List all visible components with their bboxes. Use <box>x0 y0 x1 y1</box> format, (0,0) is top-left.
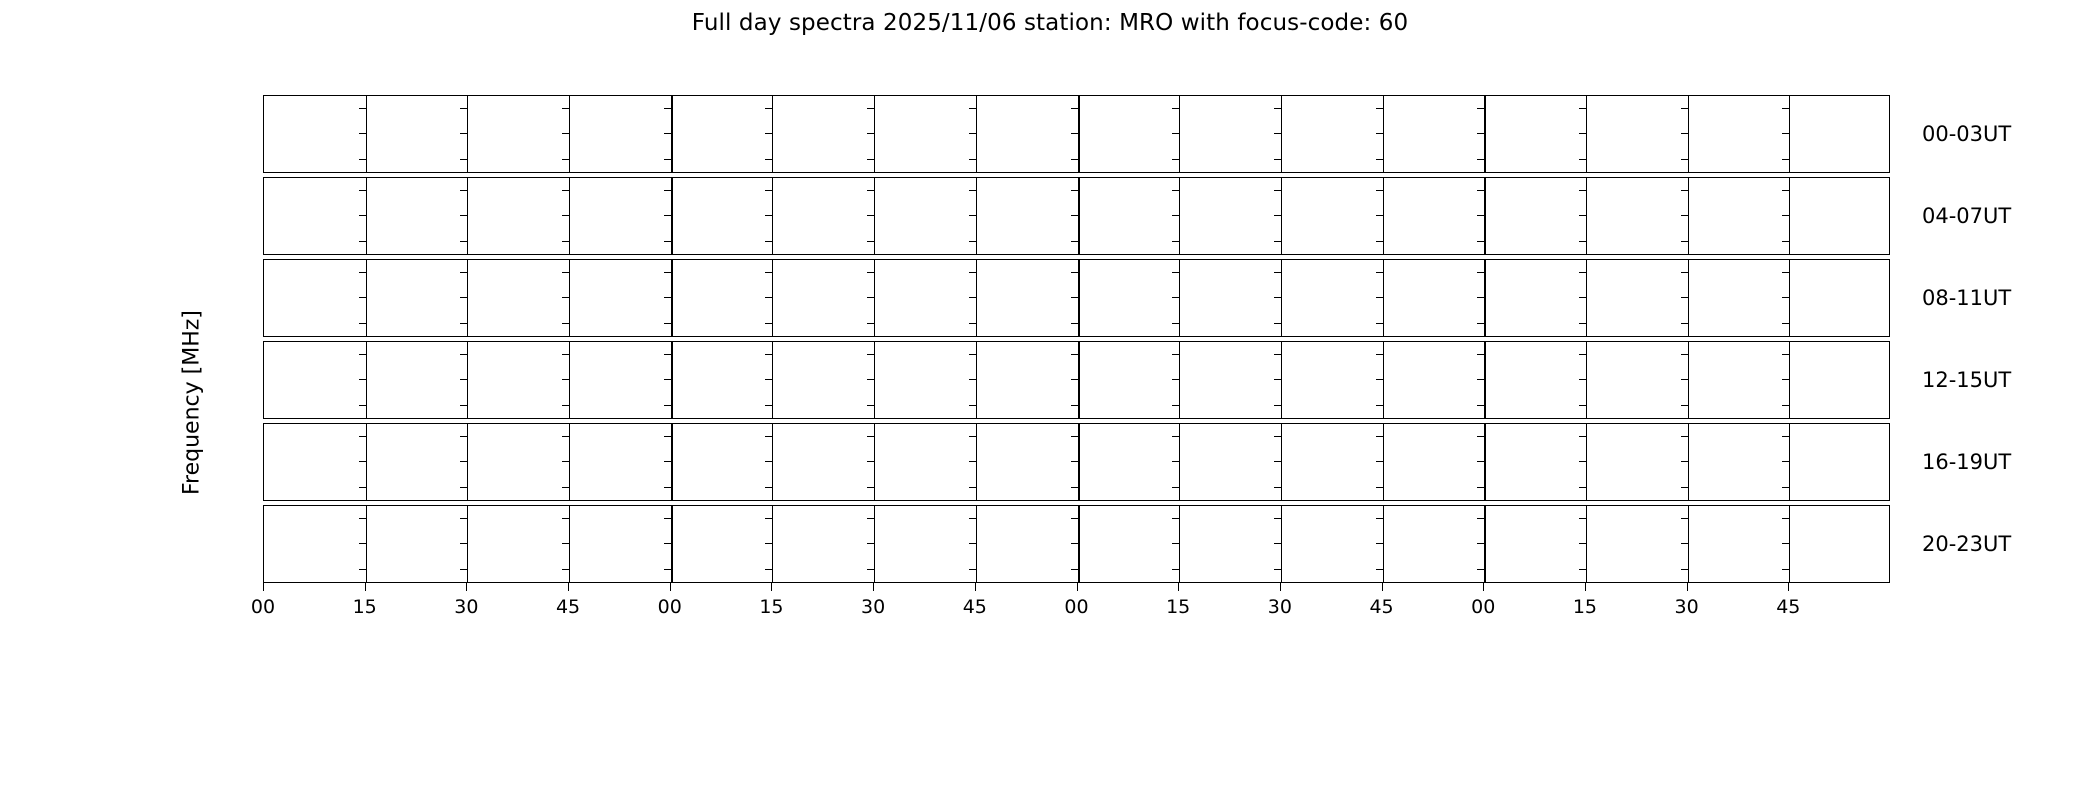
y-tick <box>263 569 264 570</box>
subpanel-divider <box>1383 260 1384 336</box>
y-tick-minor <box>1071 297 1078 298</box>
y-tick-minor <box>1477 518 1484 519</box>
x-tick-label: 30 <box>861 596 885 618</box>
x-tick <box>466 583 467 591</box>
subpanel-divider <box>467 260 468 336</box>
subpanel-divider <box>671 342 673 418</box>
y-tick-minor <box>1681 461 1688 462</box>
y-tick-minor <box>1376 405 1383 406</box>
y-tick-minor <box>359 405 366 406</box>
y-tick-minor <box>867 159 874 160</box>
y-tick-minor <box>1172 190 1179 191</box>
y-tick-minor <box>359 379 366 380</box>
y-tick <box>263 108 264 109</box>
y-tick-minor <box>969 543 976 544</box>
y-tick-minor <box>1579 405 1586 406</box>
y-tick-minor <box>1477 241 1484 242</box>
y-tick-minor <box>1071 241 1078 242</box>
subpanel-divider <box>1281 424 1282 500</box>
x-tick <box>1178 583 1179 591</box>
subpanel-divider <box>366 260 367 336</box>
subpanel-divider <box>569 96 570 172</box>
y-tick-minor <box>1681 323 1688 324</box>
y-tick-minor <box>359 159 366 160</box>
y-tick-minor <box>664 108 671 109</box>
x-tick-label: 00 <box>1471 596 1495 618</box>
y-tick-minor <box>1782 215 1789 216</box>
subpanel-divider <box>874 424 875 500</box>
subpanel-divider <box>569 260 570 336</box>
subpanel-divider <box>1179 506 1180 582</box>
y-tick-minor <box>460 159 467 160</box>
y-tick-minor <box>1274 543 1281 544</box>
y-tick-minor <box>562 461 569 462</box>
x-tick <box>771 583 772 591</box>
subpanel-divider <box>1179 96 1180 172</box>
y-tick-minor <box>1579 159 1586 160</box>
x-tick <box>1280 583 1281 591</box>
y-tick-minor <box>1071 487 1078 488</box>
y-tick-minor <box>460 405 467 406</box>
subpanel-divider <box>467 178 468 254</box>
y-tick-minor <box>664 215 671 216</box>
subpanel-divider <box>671 424 673 500</box>
y-tick-minor <box>1172 379 1179 380</box>
y-tick-minor <box>1681 543 1688 544</box>
subpanel-divider <box>1078 96 1080 172</box>
y-tick-minor <box>1681 215 1688 216</box>
y-tick-minor <box>1681 379 1688 380</box>
y-tick-minor <box>1579 241 1586 242</box>
y-tick-minor <box>765 323 772 324</box>
subpanel-divider <box>1078 260 1080 336</box>
y-tick-minor <box>1172 543 1179 544</box>
subpanel-divider <box>366 96 367 172</box>
y-tick-minor <box>1579 436 1586 437</box>
y-tick-minor <box>1782 297 1789 298</box>
y-tick <box>263 190 264 191</box>
y-tick-minor <box>765 354 772 355</box>
y-tick-minor <box>1071 323 1078 324</box>
subpanel-divider <box>366 424 367 500</box>
y-tick-minor <box>1274 518 1281 519</box>
y-tick-minor <box>1071 569 1078 570</box>
x-tick-label: 45 <box>556 596 580 618</box>
y-tick-minor <box>562 241 569 242</box>
y-tick-minor <box>664 159 671 160</box>
y-tick-minor <box>664 241 671 242</box>
y-tick-minor <box>1681 436 1688 437</box>
subpanel-divider <box>1179 342 1180 418</box>
y-tick-minor <box>1376 272 1383 273</box>
spectrogram-row-08-11ut[interactable]: 250500750 <box>263 259 1890 337</box>
subpanel-divider <box>976 424 977 500</box>
y-tick-minor <box>969 241 976 242</box>
y-tick-minor <box>1172 272 1179 273</box>
y-tick-minor <box>1477 190 1484 191</box>
y-tick-minor <box>1172 354 1179 355</box>
y-tick-minor <box>969 518 976 519</box>
y-tick-minor <box>1681 108 1688 109</box>
y-tick-minor <box>969 323 976 324</box>
subpanel-divider <box>772 178 773 254</box>
y-tick-minor <box>1681 297 1688 298</box>
y-tick-minor <box>1172 159 1179 160</box>
x-tick-label: 00 <box>1064 596 1088 618</box>
subpanel-divider <box>1179 178 1180 254</box>
y-tick-minor <box>1376 297 1383 298</box>
x-tick-label: 45 <box>1369 596 1393 618</box>
x-tick-label: 00 <box>251 596 275 618</box>
y-tick-minor <box>359 518 366 519</box>
y-tick-minor <box>765 569 772 570</box>
y-tick-minor <box>562 543 569 544</box>
y-tick-minor <box>562 379 569 380</box>
y-tick-minor <box>765 436 772 437</box>
y-tick-minor <box>765 159 772 160</box>
subpanel-divider <box>1688 424 1689 500</box>
subpanel-divider <box>569 506 570 582</box>
subpanel-divider <box>1688 342 1689 418</box>
subpanel-divider <box>1383 506 1384 582</box>
y-tick-minor <box>1681 159 1688 160</box>
subpanel-divider <box>569 342 570 418</box>
x-tick <box>1077 583 1078 591</box>
y-tick-minor <box>460 569 467 570</box>
row-label-16-19ut: 16-19UT <box>1922 450 2011 474</box>
subpanel-divider <box>1383 178 1384 254</box>
page-title: Full day spectra 2025/11/06 station: MRO… <box>0 10 2100 36</box>
y-tick-minor <box>1681 518 1688 519</box>
y-tick-minor <box>765 379 772 380</box>
y-tick-minor <box>1071 543 1078 544</box>
x-tick <box>568 583 569 591</box>
subpanel-divider <box>976 96 977 172</box>
y-tick-minor <box>1274 297 1281 298</box>
y-tick-minor <box>1172 108 1179 109</box>
y-tick-minor <box>1071 133 1078 134</box>
subpanel-divider <box>366 506 367 582</box>
subpanel-divider <box>1789 424 1790 500</box>
y-tick-minor <box>1681 487 1688 488</box>
y-tick-minor <box>664 487 671 488</box>
y-tick-minor <box>1071 436 1078 437</box>
y-tick-minor <box>359 436 366 437</box>
spectrogram-row-16-19ut[interactable]: 250500750 <box>263 423 1890 501</box>
y-tick-minor <box>969 108 976 109</box>
y-tick-minor <box>1172 569 1179 570</box>
y-tick-minor <box>1376 108 1383 109</box>
y-tick <box>263 487 264 488</box>
y-tick-minor <box>867 297 874 298</box>
y-tick-minor <box>1681 272 1688 273</box>
y-tick-minor <box>1579 487 1586 488</box>
y-tick-minor <box>460 297 467 298</box>
y-axis-label: Frequency [MHz] <box>175 95 209 710</box>
subpanel-divider <box>1789 96 1790 172</box>
y-tick-minor <box>1071 518 1078 519</box>
y-tick <box>263 297 264 298</box>
subpanel-divider <box>1484 506 1486 582</box>
y-tick-minor <box>664 354 671 355</box>
y-tick-minor <box>1782 354 1789 355</box>
x-tick <box>670 583 671 591</box>
y-tick-minor <box>664 518 671 519</box>
y-tick-minor <box>562 569 569 570</box>
y-tick <box>263 461 264 462</box>
subpanel-divider <box>1789 178 1790 254</box>
subpanel-divider <box>1688 506 1689 582</box>
subpanel-divider <box>874 260 875 336</box>
y-tick-minor <box>1477 215 1484 216</box>
x-tick-label: 15 <box>353 596 377 618</box>
x-tick-label: 45 <box>963 596 987 618</box>
y-tick-minor <box>867 354 874 355</box>
x-tick <box>1788 583 1789 591</box>
y-tick-minor <box>359 272 366 273</box>
y-tick-minor <box>664 569 671 570</box>
y-tick-minor <box>1274 133 1281 134</box>
subpanel-divider <box>467 506 468 582</box>
y-tick-minor <box>1782 487 1789 488</box>
y-tick-minor <box>765 405 772 406</box>
y-tick-minor <box>1274 354 1281 355</box>
subpanel-divider <box>1281 260 1282 336</box>
y-tick-minor <box>664 323 671 324</box>
subpanel-divider <box>1688 260 1689 336</box>
y-tick-minor <box>1579 108 1586 109</box>
y-tick-minor <box>969 215 976 216</box>
y-tick-minor <box>1681 133 1688 134</box>
y-tick-minor <box>1376 436 1383 437</box>
spectrogram-row-20-23ut[interactable]: 250500750 <box>263 505 1890 583</box>
y-tick-minor <box>359 297 366 298</box>
y-tick-minor <box>460 354 467 355</box>
y-tick <box>263 159 264 160</box>
spectrogram-row-04-07ut[interactable]: 250500750 <box>263 177 1890 255</box>
y-tick-minor <box>359 569 366 570</box>
y-tick-minor <box>1274 215 1281 216</box>
y-tick-minor <box>1782 518 1789 519</box>
y-tick-minor <box>765 518 772 519</box>
x-tick <box>873 583 874 591</box>
y-tick-minor <box>1477 436 1484 437</box>
subpanel-divider <box>671 260 673 336</box>
y-tick-minor <box>1579 133 1586 134</box>
subpanel-divider <box>671 96 673 172</box>
y-tick-minor <box>1782 543 1789 544</box>
y-tick-minor <box>1071 108 1078 109</box>
x-tick-label: 30 <box>1268 596 1292 618</box>
y-tick-minor <box>1477 569 1484 570</box>
subpanel-divider <box>1281 178 1282 254</box>
y-tick-minor <box>1782 159 1789 160</box>
y-tick-minor <box>460 436 467 437</box>
subpanel-divider <box>1078 178 1080 254</box>
subpanel-divider <box>1586 342 1587 418</box>
x-tick <box>1483 583 1484 591</box>
y-tick-minor <box>969 190 976 191</box>
y-tick-minor <box>460 518 467 519</box>
y-tick-minor <box>765 461 772 462</box>
figure-canvas: Full day spectra 2025/11/06 station: MRO… <box>0 0 2100 800</box>
x-tick-label: 15 <box>759 596 783 618</box>
y-tick-minor <box>1274 323 1281 324</box>
subpanel-divider <box>874 342 875 418</box>
subpanel-divider <box>1688 96 1689 172</box>
y-tick <box>263 323 264 324</box>
y-tick-minor <box>1274 241 1281 242</box>
y-tick-minor <box>460 543 467 544</box>
subpanel-divider <box>1383 342 1384 418</box>
row-label-12-15ut: 12-15UT <box>1922 368 2011 392</box>
subpanel-divider <box>874 506 875 582</box>
y-tick-minor <box>867 323 874 324</box>
y-tick-minor <box>1782 461 1789 462</box>
y-tick-minor <box>1579 272 1586 273</box>
y-tick-minor <box>1071 272 1078 273</box>
y-tick-minor <box>969 272 976 273</box>
y-tick-minor <box>359 543 366 544</box>
y-tick-minor <box>1782 241 1789 242</box>
y-tick-minor <box>1579 323 1586 324</box>
y-tick-minor <box>969 133 976 134</box>
y-tick-minor <box>1477 487 1484 488</box>
y-tick-minor <box>562 297 569 298</box>
y-tick-minor <box>359 323 366 324</box>
subpanel-divider <box>874 178 875 254</box>
subpanel-divider <box>1383 424 1384 500</box>
y-tick-minor <box>562 133 569 134</box>
y-tick-minor <box>1274 159 1281 160</box>
y-tick <box>263 379 264 380</box>
y-tick-minor <box>664 379 671 380</box>
subpanel-divider <box>1484 342 1486 418</box>
subpanel-divider <box>1281 96 1282 172</box>
x-tick <box>1687 583 1688 591</box>
y-tick-minor <box>867 133 874 134</box>
y-tick-minor <box>1376 461 1383 462</box>
y-tick-minor <box>1477 133 1484 134</box>
y-tick-minor <box>562 354 569 355</box>
x-tick-label: 45 <box>1776 596 1800 618</box>
y-tick-minor <box>562 272 569 273</box>
subpanel-divider <box>1484 260 1486 336</box>
y-tick-minor <box>867 241 874 242</box>
y-tick-minor <box>969 379 976 380</box>
y-tick-minor <box>1071 405 1078 406</box>
y-tick-minor <box>1782 436 1789 437</box>
subpanel-divider <box>772 96 773 172</box>
y-tick-minor <box>1172 405 1179 406</box>
row-label-08-11ut: 08-11UT <box>1922 286 2011 310</box>
y-tick-minor <box>1477 405 1484 406</box>
x-tick <box>365 583 366 591</box>
y-tick-minor <box>765 108 772 109</box>
y-tick-minor <box>1782 190 1789 191</box>
subpanel-divider <box>1586 424 1587 500</box>
subpanel-divider <box>467 342 468 418</box>
subpanel-divider <box>569 178 570 254</box>
subpanel-divider <box>467 424 468 500</box>
y-tick-minor <box>664 543 671 544</box>
y-tick-minor <box>1681 190 1688 191</box>
y-tick-minor <box>1579 461 1586 462</box>
subpanel-divider <box>1586 178 1587 254</box>
y-tick-minor <box>460 379 467 380</box>
y-tick-minor <box>460 323 467 324</box>
y-tick-minor <box>1172 518 1179 519</box>
y-tick-minor <box>562 323 569 324</box>
y-tick-minor <box>969 436 976 437</box>
y-tick-minor <box>1274 272 1281 273</box>
y-tick-minor <box>1376 241 1383 242</box>
subpanel-divider <box>1078 342 1080 418</box>
subpanel-divider <box>1484 96 1486 172</box>
y-tick-minor <box>867 272 874 273</box>
spectrogram-row-12-15ut[interactable]: 250500750 <box>263 341 1890 419</box>
y-tick-minor <box>1681 241 1688 242</box>
x-tick-label: 30 <box>1675 596 1699 618</box>
y-tick-minor <box>1376 379 1383 380</box>
y-tick-minor <box>1579 569 1586 570</box>
y-tick <box>263 215 264 216</box>
subpanel-divider <box>976 342 977 418</box>
y-tick-minor <box>1274 487 1281 488</box>
subpanel-divider <box>772 260 773 336</box>
subpanel-divider <box>1789 506 1790 582</box>
x-tick-label: 15 <box>1573 596 1597 618</box>
y-tick <box>263 436 264 437</box>
row-label-04-07ut: 04-07UT <box>1922 204 2011 228</box>
y-tick-minor <box>1274 190 1281 191</box>
y-tick-minor <box>969 405 976 406</box>
y-tick-minor <box>1782 379 1789 380</box>
y-tick-minor <box>562 487 569 488</box>
spectrogram-row-00-03ut[interactable]: 250500750 <box>263 95 1890 173</box>
y-tick-minor <box>1579 379 1586 380</box>
row-label-00-03ut: 00-03UT <box>1922 122 2011 146</box>
y-tick-minor <box>359 215 366 216</box>
y-tick-minor <box>1172 436 1179 437</box>
y-tick-minor <box>1477 108 1484 109</box>
y-tick-minor <box>1782 405 1789 406</box>
subpanel-divider <box>1179 260 1180 336</box>
subpanel-divider <box>467 96 468 172</box>
subpanel-divider <box>1078 506 1080 582</box>
x-tick-label: 15 <box>1166 596 1190 618</box>
y-tick-minor <box>1274 405 1281 406</box>
y-tick-minor <box>765 241 772 242</box>
y-tick-minor <box>359 487 366 488</box>
y-tick-minor <box>1579 215 1586 216</box>
y-tick-minor <box>460 461 467 462</box>
subpanel-divider <box>1281 342 1282 418</box>
y-tick-minor <box>1172 461 1179 462</box>
y-tick-minor <box>359 241 366 242</box>
y-tick <box>263 272 264 273</box>
y-tick-minor <box>867 379 874 380</box>
y-tick-minor <box>1071 215 1078 216</box>
y-tick-minor <box>1477 461 1484 462</box>
y-tick-minor <box>1681 354 1688 355</box>
y-tick-minor <box>1071 159 1078 160</box>
subpanel-divider <box>772 424 773 500</box>
y-tick-minor <box>1782 323 1789 324</box>
subpanel-divider <box>1383 96 1384 172</box>
y-tick-minor <box>867 108 874 109</box>
x-tick <box>975 583 976 591</box>
